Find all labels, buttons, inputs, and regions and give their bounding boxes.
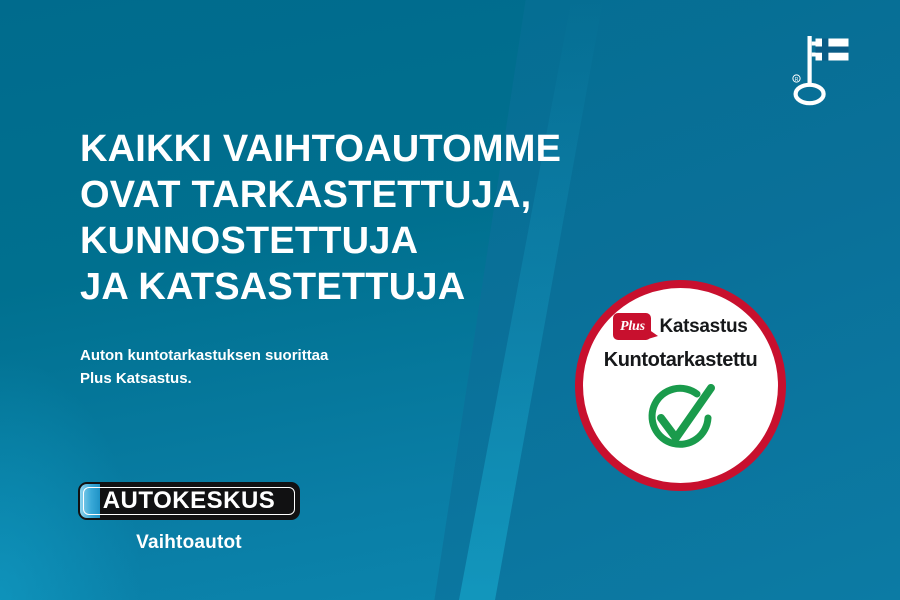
subtitle: Auton kuntotarkastuksen suorittaa Plus K… <box>80 344 500 390</box>
plus-wordmark: Plus <box>620 319 645 335</box>
green-circle-check-icon <box>635 378 727 458</box>
plus-katsastus-logo: Plus Katsastus <box>613 313 747 340</box>
background-left-glow <box>0 360 140 600</box>
plus-mark-icon: Plus <box>613 313 651 340</box>
avainlippu-key-flag-icon: R <box>786 28 856 106</box>
promo-banner: R KAIKKI VAIHTOAUTOMME OVAT TARKASTETTUJ… <box>0 0 900 600</box>
badge-claim-text: Kuntotarkastettu <box>604 349 758 372</box>
subtitle-line-2: Plus Katsastus. <box>80 367 500 390</box>
plus-tail-icon <box>648 329 658 339</box>
katsastus-wordmark: Katsastus <box>659 316 747 338</box>
svg-text:R: R <box>795 77 799 83</box>
headline-line-3: KUNNOSTETTUJA <box>80 218 680 264</box>
headline-line-1: KAIKKI VAIHTOAUTOMME <box>80 126 680 172</box>
autokeskus-subtitle: Vaihtoautot <box>78 532 300 554</box>
headline: KAIKKI VAIHTOAUTOMME OVAT TARKASTETTUJA,… <box>80 126 680 310</box>
headline-line-4: JA KATSASTETTUJA <box>80 264 680 310</box>
autokeskus-wordmark: AUTOKESKUS <box>103 487 276 515</box>
subtitle-line-1: Auton kuntotarkastuksen suorittaa <box>80 344 500 367</box>
autokeskus-plate-icon: AUTOKESKUS <box>78 482 300 520</box>
cyan-accent-bar-icon <box>80 484 100 518</box>
kuntotarkastettu-badge: Plus Katsastus Kuntotarkastettu <box>575 280 786 491</box>
autokeskus-logo[interactable]: AUTOKESKUS Vaihtoautot <box>78 482 308 554</box>
headline-line-2: OVAT TARKASTETTUJA, <box>80 172 680 218</box>
